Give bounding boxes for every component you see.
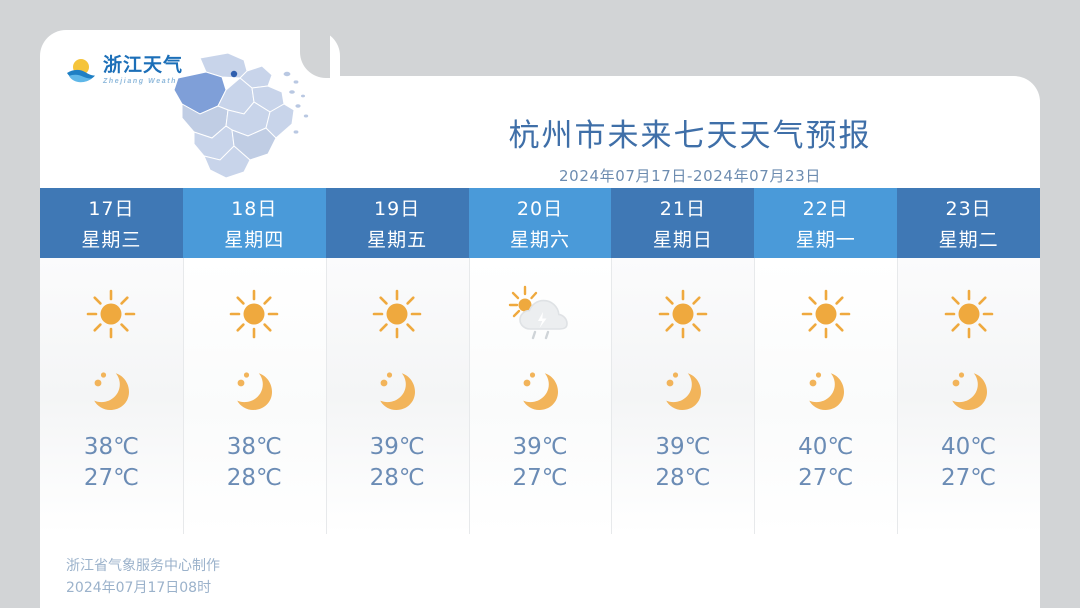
- sun-icon: [226, 278, 282, 350]
- moon-stars-icon: [512, 350, 568, 422]
- day-body: 39℃28℃: [326, 258, 469, 534]
- low-temperature: 28℃: [655, 463, 710, 494]
- day-number: 19日: [374, 194, 420, 221]
- low-temperature: 27℃: [941, 463, 996, 494]
- low-temperature: 28℃: [370, 463, 425, 494]
- zhejiang-province-map: [148, 44, 326, 186]
- day-header: 20日星期六: [469, 188, 612, 258]
- day-header: 18日星期四: [183, 188, 326, 258]
- day-number: 21日: [660, 194, 706, 221]
- moon-stars-icon: [369, 350, 425, 422]
- day-weekday: 星期日: [653, 225, 713, 252]
- forecast-day-column[interactable]: 19日星期五39℃28℃: [326, 188, 469, 534]
- footer: 浙江省气象服务中心制作 2024年07月17日08时: [66, 556, 220, 599]
- temperature-range: 40℃27℃: [798, 432, 853, 494]
- forecast-day-column[interactable]: 21日星期日39℃28℃: [611, 188, 754, 534]
- moon-stars-icon: [655, 350, 711, 422]
- low-temperature: 27℃: [512, 463, 567, 494]
- day-weekday: 星期一: [796, 225, 856, 252]
- high-temperature: 38℃: [84, 432, 139, 463]
- high-temperature: 39℃: [512, 432, 567, 463]
- day-body: 40℃27℃: [754, 258, 897, 534]
- forecast-day-column[interactable]: 23日星期二40℃27℃: [897, 188, 1040, 534]
- high-temperature: 40℃: [798, 432, 853, 463]
- day-body: 39℃27℃: [469, 258, 612, 534]
- high-temperature: 38℃: [227, 432, 282, 463]
- sun-icon: [798, 278, 854, 350]
- day-header: 21日星期日: [611, 188, 754, 258]
- title-block: 杭州市未来七天天气预报 2024年07月17日-2024年07月23日: [340, 110, 1040, 186]
- low-temperature: 27℃: [84, 463, 139, 494]
- forecast-day-column[interactable]: 20日星期六39℃27℃: [469, 188, 612, 534]
- temperature-range: 38℃27℃: [84, 432, 139, 494]
- high-temperature: 39℃: [655, 432, 710, 463]
- day-weekday: 星期二: [939, 225, 999, 252]
- footer-timestamp: 2024年07月17日08时: [66, 578, 220, 600]
- low-temperature: 27℃: [798, 463, 853, 494]
- day-body: 40℃27℃: [897, 258, 1040, 534]
- sun-icon: [83, 278, 139, 350]
- seven-day-forecast-grid: 17日星期三38℃27℃18日星期四38℃28℃19日星期五39℃28℃20日星…: [40, 188, 1040, 534]
- moon-stars-icon: [798, 350, 854, 422]
- high-temperature: 40℃: [941, 432, 996, 463]
- sun-icon: [941, 278, 997, 350]
- temperature-range: 39℃28℃: [370, 432, 425, 494]
- day-header: 17日星期三: [40, 188, 183, 258]
- moon-stars-icon: [83, 350, 139, 422]
- day-weekday: 星期三: [81, 225, 141, 252]
- moon-stars-icon: [941, 350, 997, 422]
- forecast-day-column[interactable]: 22日星期一40℃27℃: [754, 188, 897, 534]
- temperature-range: 39℃28℃: [655, 432, 710, 494]
- day-number: 20日: [517, 194, 563, 221]
- day-number: 23日: [945, 194, 991, 221]
- sun-icon: [369, 278, 425, 350]
- sun-icon: [655, 278, 711, 350]
- day-body: 38℃28℃: [183, 258, 326, 534]
- day-body: 38℃27℃: [40, 258, 183, 534]
- low-temperature: 28℃: [227, 463, 282, 494]
- temperature-range: 39℃27℃: [512, 432, 567, 494]
- sun-thunder-shower-icon: [508, 278, 572, 350]
- day-body: 39℃28℃: [611, 258, 754, 534]
- day-header: 22日星期一: [754, 188, 897, 258]
- forecast-day-column[interactable]: 17日星期三38℃27℃: [40, 188, 183, 534]
- day-header: 23日星期二: [897, 188, 1040, 258]
- day-number: 22日: [803, 194, 849, 221]
- temperature-range: 38℃28℃: [227, 432, 282, 494]
- day-weekday: 星期五: [367, 225, 427, 252]
- moon-stars-icon: [226, 350, 282, 422]
- high-temperature: 39℃: [370, 432, 425, 463]
- sun-wave-icon: [66, 56, 96, 84]
- page-title: 杭州市未来七天天气预报: [340, 110, 1040, 155]
- footer-producer: 浙江省气象服务中心制作: [66, 556, 220, 578]
- day-weekday: 星期六: [510, 225, 570, 252]
- forecast-day-column[interactable]: 18日星期四38℃28℃: [183, 188, 326, 534]
- temperature-range: 40℃27℃: [941, 432, 996, 494]
- date-range-label: 2024年07月17日-2024年07月23日: [340, 165, 1040, 186]
- day-weekday: 星期四: [224, 225, 284, 252]
- day-header: 19日星期五: [326, 188, 469, 258]
- day-number: 17日: [88, 194, 134, 221]
- day-number: 18日: [231, 194, 277, 221]
